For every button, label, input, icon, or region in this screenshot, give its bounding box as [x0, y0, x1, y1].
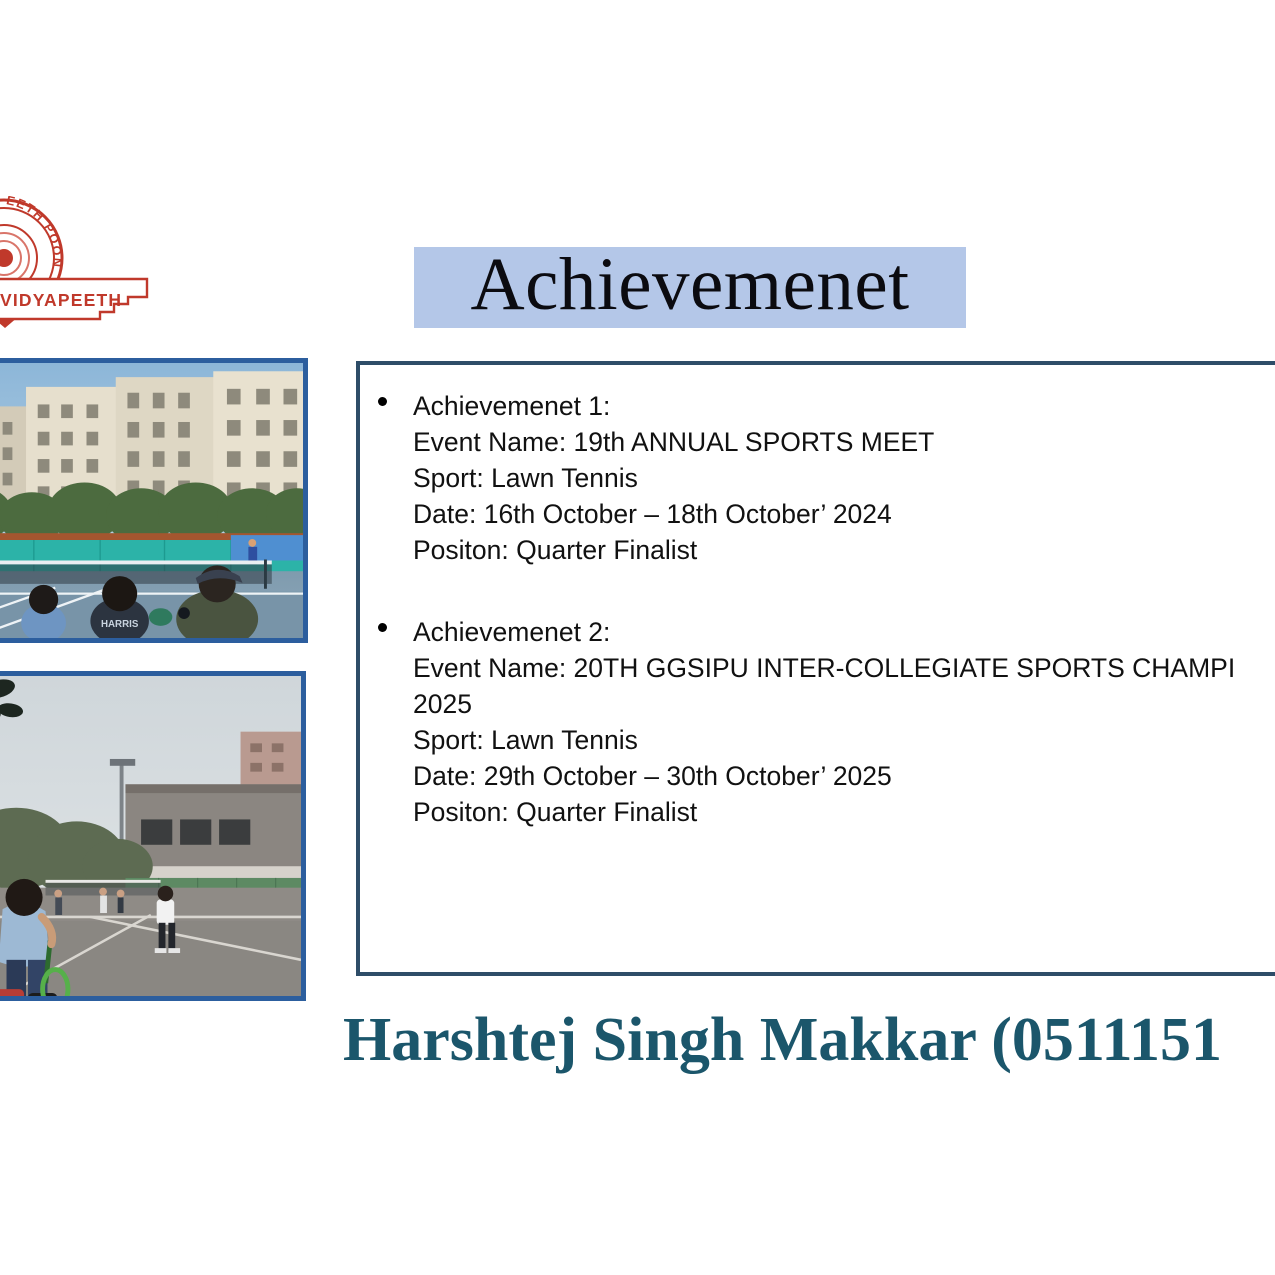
bullet-icon [378, 623, 387, 632]
page-title: Achievemenet [414, 240, 966, 330]
achievement-2-event-year: 2025 [413, 686, 1275, 722]
achievement-2-date: Date: 29th October – 30th October’ 2025 [413, 758, 1275, 794]
bullet-icon [378, 397, 387, 406]
svg-text:HARRIS: HARRIS [101, 619, 139, 630]
achievement-2-heading: Achievemenet 2: [413, 614, 1275, 650]
achievement-1-sport: Sport: Lawn Tennis [413, 460, 1275, 496]
achievements-list: Achievemenet 1: Event Name: 19th ANNUAL … [378, 388, 1275, 830]
achievement-photo-2 [0, 671, 306, 1001]
achievement-1-event-name: Event Name: 19th ANNUAL SPORTS MEET [413, 424, 1275, 460]
achievement-2-position: Positon: Quarter Finalist [413, 794, 1275, 830]
achievement-1-position: Positon: Quarter Finalist [413, 532, 1275, 568]
achievement-item-2: Achievemenet 2: Event Name: 20TH GGSIPU … [378, 614, 1275, 830]
institution-logo: EETH POONA VIDYAPEETH [0, 196, 162, 331]
achievement-1-date: Date: 16th October – 18th October’ 2024 [413, 496, 1275, 532]
achievement-photo-1: HARRIS [0, 358, 308, 643]
svg-text:VIDYAPEETH: VIDYAPEETH [0, 290, 122, 310]
presenter-name: Harshtej Singh Makkar (0511151 [343, 1005, 1222, 1076]
achievement-1-heading: Achievemenet 1: [413, 388, 1275, 424]
achievement-2-event-name: Event Name: 20TH GGSIPU INTER-COLLEGIATE… [413, 650, 1275, 686]
achievement-2-sport: Sport: Lawn Tennis [413, 722, 1275, 758]
achievement-item-1: Achievemenet 1: Event Name: 19th ANNUAL … [378, 388, 1275, 568]
